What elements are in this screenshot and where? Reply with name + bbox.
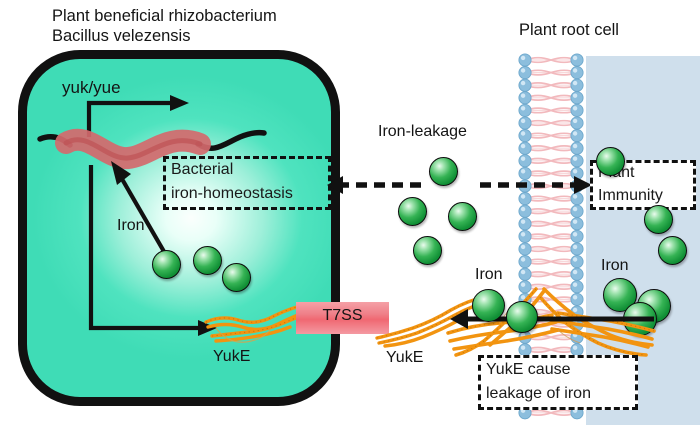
box-line-2: Immunity (598, 187, 663, 205)
cytoplasmic-iron-label: Iron (601, 256, 629, 275)
iron-sphere (596, 147, 625, 176)
box-line-1: Bacterial (171, 161, 233, 179)
iron-sphere (429, 157, 458, 186)
iron-sphere (658, 236, 687, 265)
iron-sphere (152, 250, 181, 279)
bacterial-iron-label: Iron (117, 216, 145, 235)
bacterial-iron-homeostasis-box: Bacterial iron-homeostasis (163, 156, 331, 210)
pore-iron-label: Iron (475, 265, 503, 284)
yuke-secreted-label: YukE (386, 348, 423, 367)
box-line-1: YukE cause (486, 361, 571, 379)
yuke-leakage-box: YukE cause leakage of iron (478, 355, 638, 410)
iron-sphere (398, 197, 427, 226)
dashed-arrow-left-icon (325, 172, 425, 198)
box-line-2: iron-homeostasis (171, 185, 293, 203)
yuke-intracellular-label: YukE (213, 347, 250, 366)
iron-leakage-label: Iron-leakage (378, 122, 467, 141)
box-line-2: leakage of iron (486, 385, 591, 403)
iron-sphere (193, 246, 222, 275)
iron-sphere (472, 289, 505, 322)
plant-root-cell-title: Plant root cell (519, 20, 619, 40)
iron-sphere (644, 205, 673, 234)
dashed-arrow-right-icon (478, 172, 598, 198)
iron-sphere-in-pore (506, 301, 538, 333)
iron-sphere (222, 263, 251, 292)
iron-sphere (448, 202, 477, 231)
bacterium-title-line1: Plant beneficial rhizobacterium (52, 6, 277, 26)
bacterium-title-line2: Bacillus velezensis (52, 26, 190, 46)
iron-sphere (413, 236, 442, 265)
